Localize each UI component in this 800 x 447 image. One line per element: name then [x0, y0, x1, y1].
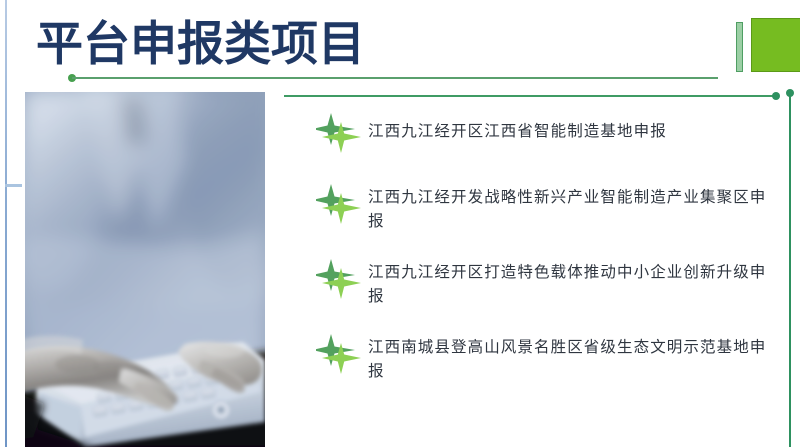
list-item[interactable]: 江西九江经开发战略性新兴产业智能制造产业集聚区申报 — [310, 183, 770, 233]
sparkle-star-icon — [310, 258, 368, 304]
rule-end-dot-icon — [772, 92, 780, 100]
green-square-decoration — [751, 18, 800, 72]
green-vertical-bar-decoration — [736, 22, 743, 72]
laptop-typing-photo — [25, 92, 265, 447]
sparkle-star-icon — [310, 112, 368, 158]
sparkle-star-icon — [310, 333, 368, 379]
divider-line-top — [72, 77, 718, 79]
list-item-label: 江西九江经开区江西省智能制造基地申报 — [368, 112, 770, 143]
divider-line-right-vertical — [789, 93, 791, 447]
list-item-label: 江西九江经开区打造特色载体推动中小企业创新升级申报 — [368, 258, 770, 308]
left-accent-tick — [5, 184, 22, 187]
page-title: 平台申报类项目 — [36, 17, 365, 73]
list-item[interactable]: 江西九江经开区江西省智能制造基地申报 — [310, 112, 770, 158]
list-item[interactable]: 江西南城县登高山风景名胜区省级生态文明示范基地申报 — [310, 333, 770, 383]
slide-canvas: 平台申报类项目 — [0, 0, 800, 447]
project-list: 江西九江经开区江西省智能制造基地申报 江西九江经开发战略性新兴产业智能制造产业集… — [310, 112, 770, 408]
list-item-label: 江西南城县登高山风景名胜区省级生态文明示范基地申报 — [368, 333, 770, 383]
list-item[interactable]: 江西九江经开区打造特色载体推动中小企业创新升级申报 — [310, 258, 770, 308]
list-item-label: 江西九江经开发战略性新兴产业智能制造产业集聚区申报 — [368, 183, 770, 233]
left-accent-rule — [5, 0, 7, 447]
sparkle-star-icon — [310, 183, 368, 229]
divider-line-second — [284, 95, 776, 97]
